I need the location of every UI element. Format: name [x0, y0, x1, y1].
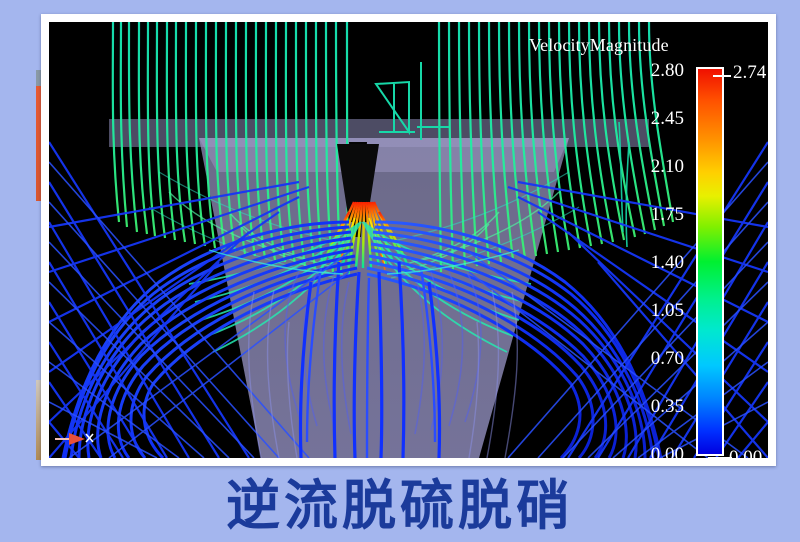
legend-min-value: 0.00: [729, 447, 762, 458]
legend-max-value: 2.74: [733, 62, 766, 84]
legend-tick-5: 1.05: [651, 300, 684, 322]
legend-tick-8: 0.00: [651, 444, 684, 458]
legend-tick-7: 0.35: [651, 396, 684, 418]
legend-tick-4: 1.40: [651, 252, 684, 274]
legend-tick-6: 0.70: [651, 348, 684, 370]
slide-canvas: VelocityMagnitude 2.80 2.45 2.10 1.75 1.…: [0, 0, 800, 542]
legend-tick-1: 2.45: [651, 108, 684, 130]
slide-caption: 逆流脱硫脱硝: [0, 474, 800, 538]
legend-tick-0: 2.80: [651, 60, 684, 82]
x-axis-arrow-icon: [55, 428, 101, 450]
axis-orientation-indicator: [55, 428, 101, 450]
legend-max-tickmark: [713, 75, 731, 77]
color-legend-bar[interactable]: [696, 67, 724, 456]
render-viewport[interactable]: VelocityMagnitude 2.80 2.45 2.10 1.75 1.…: [49, 22, 768, 458]
legend-tick-2: 2.10: [651, 156, 684, 178]
legend-tick-labels: 2.80 2.45 2.10 1.75 1.40 1.05 0.70 0.35 …: [598, 60, 684, 458]
render-window-frame: VelocityMagnitude 2.80 2.45 2.10 1.75 1.…: [41, 14, 776, 466]
legend-title: VelocityMagnitude: [529, 35, 669, 56]
legend-tick-3: 1.75: [651, 204, 684, 226]
